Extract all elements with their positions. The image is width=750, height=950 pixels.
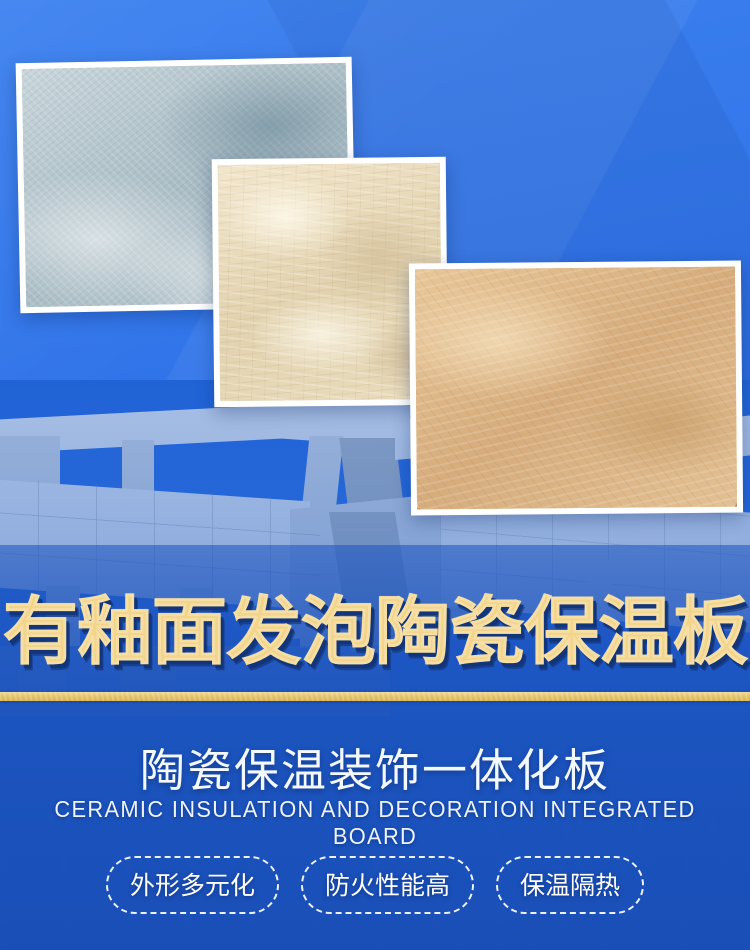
headline-container: 有釉面发泡陶瓷保温板 bbox=[0, 586, 750, 678]
tile-texture-tan-marble bbox=[415, 267, 737, 510]
feature-tag-fire-resistance[interactable]: 防火性能高 bbox=[301, 856, 474, 914]
tile-sample-3 bbox=[409, 261, 743, 516]
feature-tag-shape-diversity[interactable]: 外形多元化 bbox=[106, 856, 279, 914]
subtitle-english: CERAMIC INSULATION AND DECORATION INTEGR… bbox=[19, 796, 732, 850]
feature-tag-thermal-insulation[interactable]: 保温隔热 bbox=[496, 856, 644, 914]
subtitle-chinese: 陶瓷保温装饰一体化板 bbox=[0, 734, 750, 799]
feature-tag-list: 外形多元化 防火性能高 保温隔热 bbox=[0, 856, 750, 914]
gold-divider bbox=[0, 692, 750, 701]
product-banner: 有釉面发泡陶瓷保温板 陶瓷保温装饰一体化板 CERAMIC INSULATION… bbox=[0, 0, 750, 950]
page-title: 有釉面发泡陶瓷保温板 bbox=[3, 595, 748, 669]
